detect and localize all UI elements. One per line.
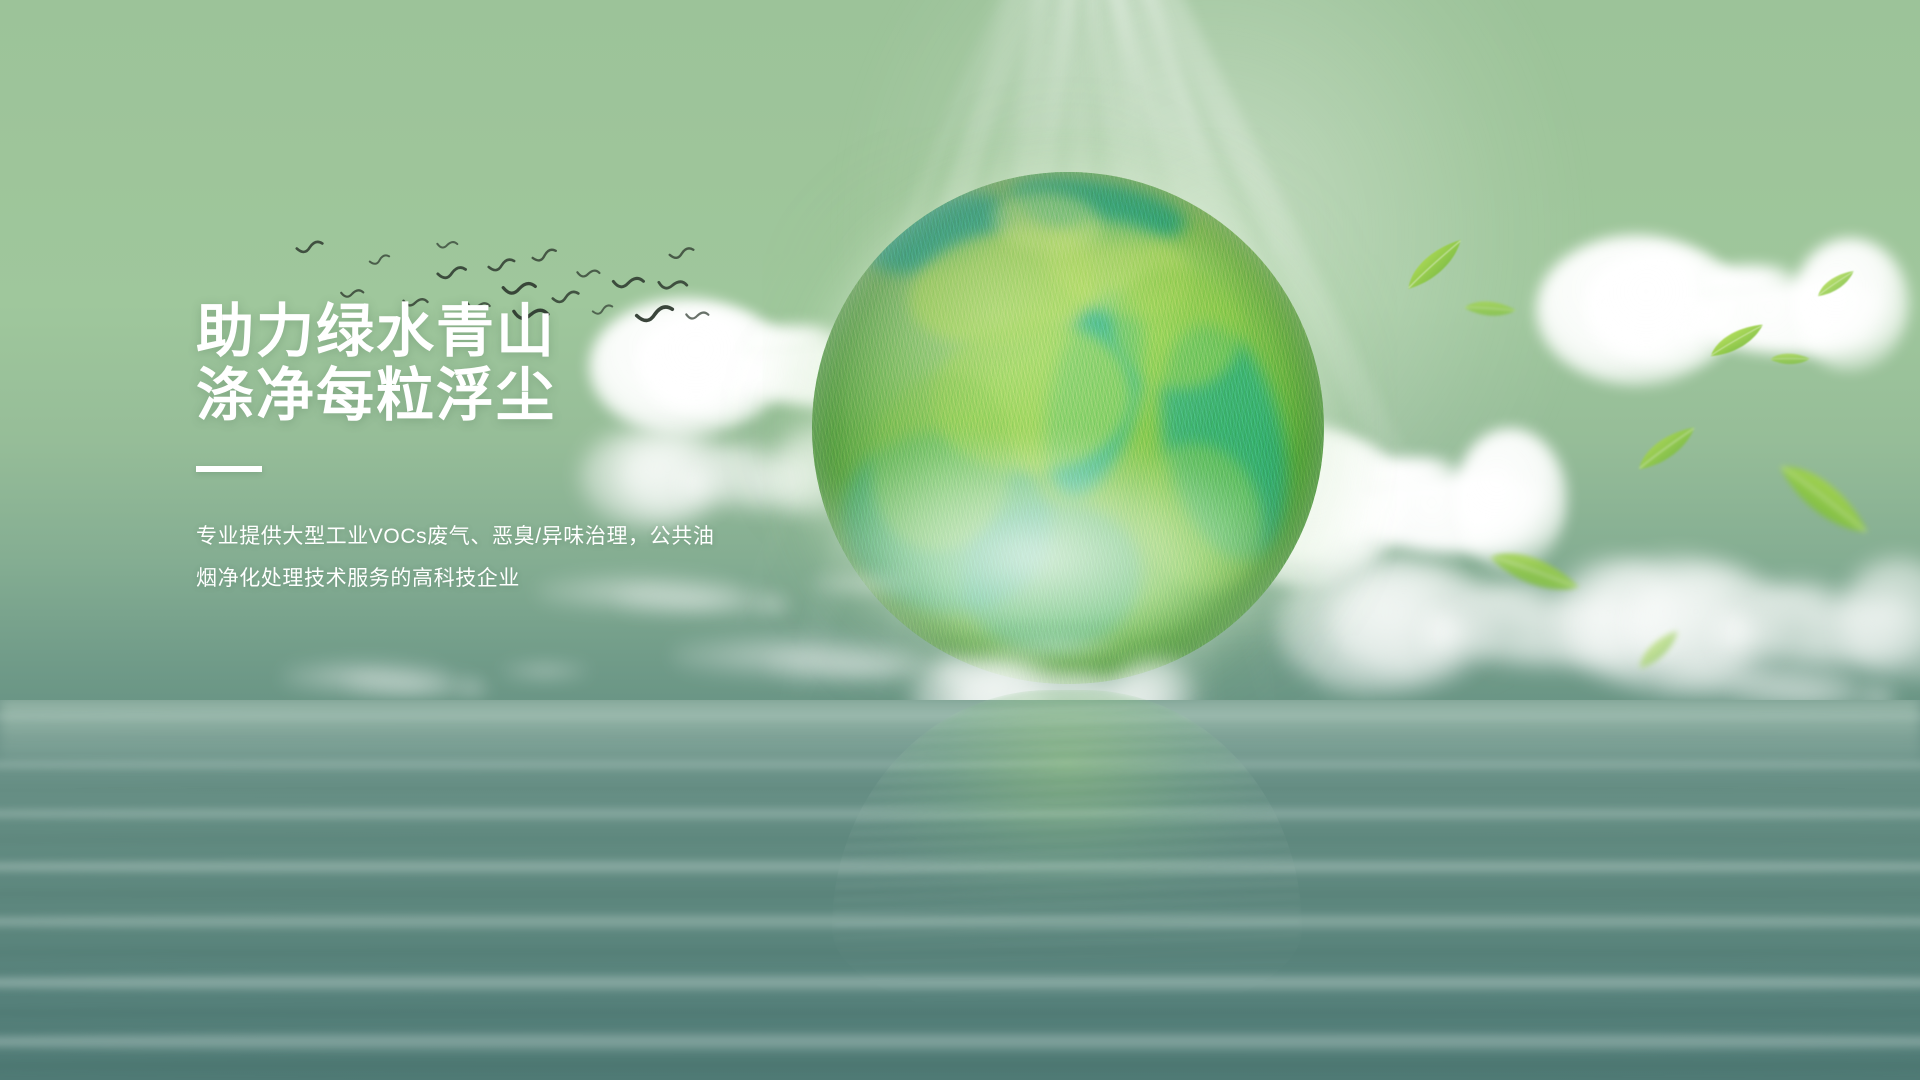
water-ripple xyxy=(0,1030,1920,1054)
hero-banner: 助力绿水青山 涤净每粒浮尘 专业提供大型工业VOCs废气、恶臭/异味治理，公共油… xyxy=(0,0,1920,1080)
water-ripple xyxy=(0,1058,1920,1074)
headline-divider xyxy=(196,466,262,472)
headline-line-1: 助力绿水青山 xyxy=(196,300,896,364)
globe-water-reflection xyxy=(832,690,1302,1020)
hero-copy: 助力绿水青山 涤净每粒浮尘 专业提供大型工业VOCs废气、恶臭/异味治理，公共油… xyxy=(196,300,896,600)
headline-line-2: 涤净每粒浮尘 xyxy=(196,364,896,428)
reflection-ripple-stripes xyxy=(832,690,1302,1020)
hero-subtitle: 专业提供大型工业VOCs废气、恶臭/异味治理，公共油烟净化处理技术服务的高科技企… xyxy=(196,516,736,600)
